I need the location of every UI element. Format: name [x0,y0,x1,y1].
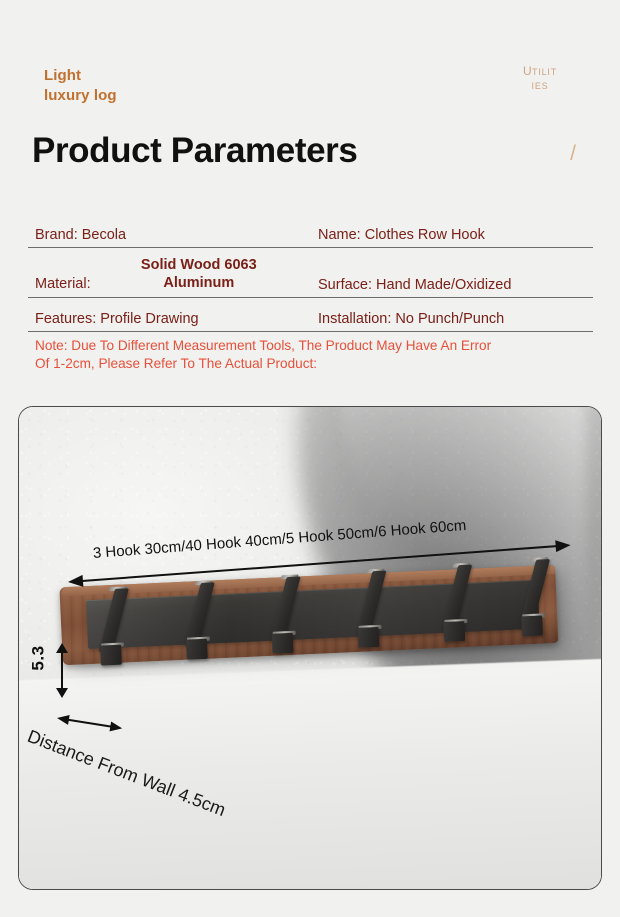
measurement-note: Note: Due To Different Measurement Tools… [28,332,593,381]
spec-cell-surface: Surface: Hand Made/Oxidized [311,277,593,293]
spec-table: Brand: Becola Name: Clothes Row Hook Mat… [28,214,593,381]
material-value-line2: Aluminum [163,275,234,291]
hook-foot-2 [186,639,208,660]
height-arrow-head-bottom [56,688,68,698]
height-arrow-line [61,651,63,690]
wall-distance-arrow-head-right [110,721,123,733]
hook-rail [59,551,563,684]
utilities-capital: U [523,64,532,78]
spec-cell-name: Name: Clothes Row Hook [311,227,593,243]
spec-row-features: Features: Profile Drawing Installation: … [28,298,593,332]
hook-foot-3 [272,633,294,654]
utilities-line1: UTILIT [500,62,580,80]
utilities-line2: IES [500,80,580,94]
material-value: Solid Wood 6063 Aluminum [91,257,311,293]
hook-foot-4 [358,627,380,648]
utilities-wordmark: UTILIT IES [500,62,580,94]
spec-cell-material: Material: Solid Wood 6063 Aluminum [28,257,311,293]
measurement-note-line1: Note: Due To Different Measurement Tools… [35,337,591,355]
hook-foot-1 [100,645,122,666]
brand-tagline-line2: luxury log [44,86,117,106]
material-label: Material: [35,276,91,293]
brand-tagline: Light luxury log [44,66,117,106]
hook-foot-6 [521,616,543,637]
spec-row-material: Material: Solid Wood 6063 Aluminum Surfa… [28,248,593,298]
width-arrow-head-right [555,539,571,552]
title-slash-decoration: / [570,142,576,166]
utilities-smallcaps: TILIT [532,67,557,77]
spec-cell-brand: Brand: Becola [28,227,311,243]
spec-row-brand: Brand: Becola Name: Clothes Row Hook [28,214,593,248]
height-dimension-label: 5.3 [29,645,49,670]
product-parameters-page: Light luxury log UTILIT IES Product Para… [0,0,620,917]
height-dimension-arrow [61,645,63,696]
page-title: Product Parameters [32,131,357,171]
measurement-note-line2: Of 1-2cm, Please Refer To The Actual Pro… [35,355,591,373]
spec-cell-features: Features: Profile Drawing [28,311,311,327]
brand-tagline-line1: Light [44,66,117,86]
product-photo [18,406,602,890]
material-value-line1: Solid Wood 6063 [141,257,257,273]
spec-cell-installation: Installation: No Punch/Punch [311,311,593,327]
hook-foot-5 [443,621,465,642]
